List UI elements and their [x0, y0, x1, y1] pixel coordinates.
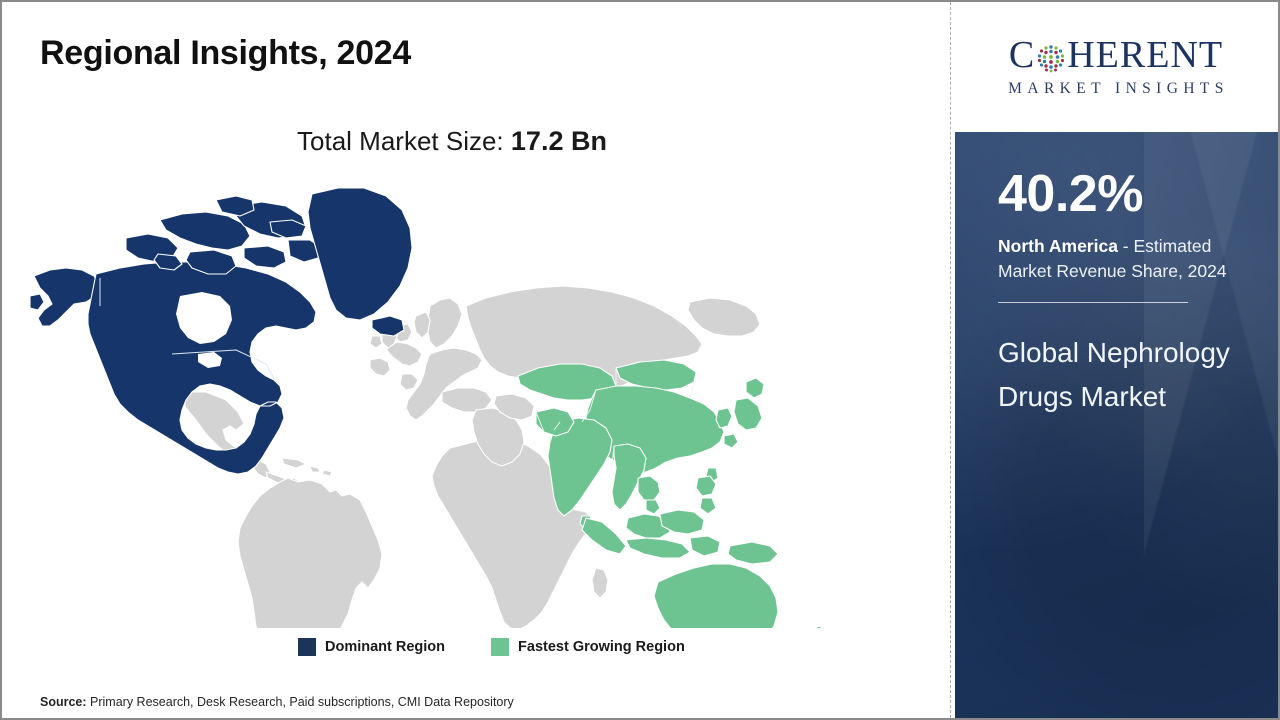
stat-value: 40.2% — [998, 168, 1246, 220]
logo-letter-c: C — [1009, 36, 1035, 74]
legend-label-fastest-growing: Fastest Growing Region — [518, 639, 685, 655]
total-market-size: Total Market Size: 17.2 Bn — [2, 126, 902, 157]
globe-dots-icon — [1036, 42, 1066, 72]
market-name: Global Nephrology Drugs Market — [998, 331, 1246, 421]
map-pane: Regional Insights, 2024 Total Market Siz… — [2, 2, 950, 718]
logo-subtitle: MARKET INSIGHTS — [1003, 80, 1229, 98]
legend-item-dominant: Dominant Region — [298, 638, 445, 656]
page-title: Regional Insights, 2024 — [40, 34, 411, 73]
total-market-size-label: Total Market Size: — [297, 126, 504, 156]
square-swatch-icon — [298, 638, 316, 656]
logo-letters-herent: HERENT — [1067, 36, 1223, 74]
source-label: Source: — [40, 695, 87, 709]
map-legend: Dominant Region Fastest Growing Region — [298, 638, 685, 656]
stat-panel-content: 40.2% North America - Estimated Market R… — [955, 132, 1280, 420]
source-text: Primary Research, Desk Research, Paid su… — [90, 695, 514, 709]
legend-item-fastest-growing: Fastest Growing Region — [491, 638, 685, 656]
square-swatch-icon — [491, 638, 509, 656]
vertical-dashed-divider — [950, 2, 951, 718]
map-region-asia-pacific — [518, 360, 834, 628]
source-note: Source: Primary Research, Desk Research,… — [40, 695, 514, 709]
brand-logo: C — [954, 2, 1278, 132]
legend-label-dominant: Dominant Region — [325, 639, 445, 655]
world-map — [30, 178, 870, 628]
stat-panel: 40.2% North America - Estimated Market R… — [955, 132, 1280, 720]
stat-divider-rule — [998, 302, 1188, 303]
infographic-slide: Regional Insights, 2024 Total Market Siz… — [0, 0, 1280, 720]
total-market-size-value: 17.2 Bn — [511, 126, 607, 156]
logo-wordmark: C — [1009, 36, 1223, 74]
world-map-svg — [30, 178, 870, 628]
stat-region-name: North America — [998, 236, 1118, 256]
stat-description: North America - Estimated Market Revenue… — [998, 234, 1246, 284]
